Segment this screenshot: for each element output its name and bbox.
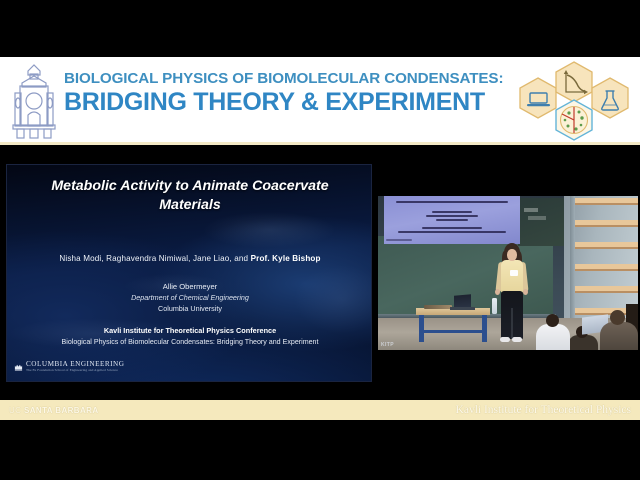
slide-authors: Nisha Modi, Raghavendra Nimiwal, Jane Li…	[21, 254, 359, 263]
speaker-leg-separation	[511, 308, 513, 339]
slide-authors-pi: Prof. Kyle Bishop	[251, 254, 321, 263]
video-player-stage: BIOLOGICAL PHYSICS OF BIOMOLECULAR CONDE…	[0, 0, 640, 480]
audience-member-2-head	[610, 310, 625, 325]
table-rail	[419, 330, 487, 333]
speaker-face	[507, 249, 517, 261]
projected-slide	[384, 196, 520, 244]
speaker-shoe-right	[512, 337, 522, 342]
water-bottle	[492, 298, 497, 314]
slide-speaker-department: Department of Chemical Engineering	[21, 293, 359, 302]
columbia-tagline: The Fu Foundation School of Engineering …	[26, 369, 124, 373]
kitp-wordmark: Kavli Institute for Theoretical Physics	[456, 404, 631, 416]
decay-curve-chart-hexagon-icon	[556, 62, 592, 102]
slide-conference-name: Kavli Institute for Theoretical Physics …	[21, 326, 359, 335]
header-title-block: BIOLOGICAL PHYSICS OF BIOMOLECULAR CONDE…	[64, 69, 512, 116]
audience-member-1-body	[536, 324, 570, 350]
table-items	[424, 305, 452, 309]
audience-member-2-body	[600, 322, 638, 350]
petri-dish-cell-hexagon-icon	[556, 100, 592, 140]
slide-speaker-institution: Columbia University	[21, 304, 359, 313]
slide-title: Metabolic Activity to Animate Coacervate…	[29, 177, 351, 215]
letterbox-top	[0, 0, 640, 57]
table-leg-right	[482, 315, 487, 342]
conference-hexagon-icon-cluster	[512, 60, 636, 144]
laptop-hexagon-icon	[520, 78, 556, 118]
columbia-engineering-logo: COLUMBIA ENGINEERING The Fu Foundation S…	[14, 361, 124, 372]
ucsb-prefix: UC	[9, 406, 24, 415]
slide-authors-list: Nisha Modi, Raghavendra Nimiwal, Jane Li…	[59, 254, 250, 263]
presenter-laptop-base	[450, 307, 475, 310]
slide-speaker-name: Allie Obermeyer	[21, 282, 359, 291]
table-leg-left	[419, 315, 424, 342]
flask-hexagon-icon	[592, 78, 628, 118]
sponsor-footer-bar: UC SANTA BARBARA Kavli Institute for The…	[0, 400, 640, 420]
shelving-post	[570, 196, 575, 328]
conference-title-line1: BIOLOGICAL PHYSICS OF BIOMOLECULAR CONDE…	[64, 69, 512, 88]
letterbox-bottom	[0, 420, 640, 480]
ucsb-storke-tower-logo	[8, 61, 60, 139]
slide-conference-subtitle: Biological Physics of Biomolecular Conde…	[15, 338, 365, 346]
speaker-torso	[501, 260, 523, 293]
speaker-shoe-left	[500, 337, 510, 342]
wall-shelving	[574, 198, 638, 318]
speaker-hand-right	[523, 289, 528, 295]
speaker-badge	[510, 270, 518, 276]
kitp-watermark: KITP	[381, 342, 394, 348]
conference-title-line2: BRIDGING THEORY & EXPERIMENT	[64, 88, 512, 116]
speaker-video-feed[interactable]: KITP	[378, 196, 638, 350]
chalkboard-writing	[524, 206, 560, 226]
speaker-hand-left	[495, 289, 500, 295]
ucsb-wordmark: UC SANTA BARBARA	[9, 406, 99, 415]
columbia-crown-icon	[14, 362, 23, 371]
ucsb-campus-name: SANTA BARBARA	[24, 406, 99, 415]
conference-header-banner: BIOLOGICAL PHYSICS OF BIOMOLECULAR CONDE…	[0, 57, 640, 145]
audience-member-1-head	[546, 314, 559, 327]
presentation-slide-panel[interactable]: Metabolic Activity to Animate Coacervate…	[6, 164, 372, 382]
